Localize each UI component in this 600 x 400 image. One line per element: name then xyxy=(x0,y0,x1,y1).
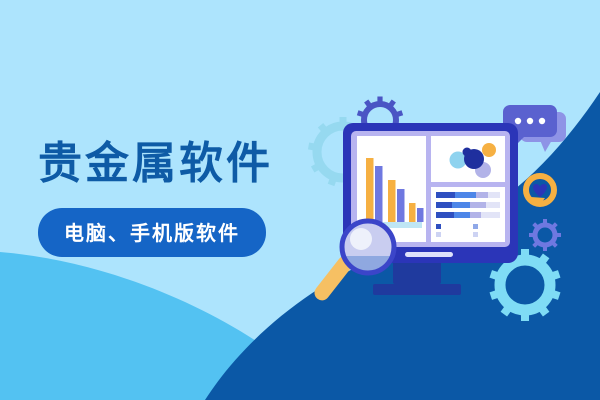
promo-banner: 贵金属软件 电脑、手机版软件 xyxy=(0,0,600,400)
page-title: 贵金属软件 xyxy=(38,140,338,188)
magnifier-highlight xyxy=(350,228,372,250)
headline-block: 贵金属软件 电脑、手机版软件 xyxy=(38,140,338,257)
subtitle-pill[interactable]: 电脑、手机版软件 xyxy=(38,208,266,257)
